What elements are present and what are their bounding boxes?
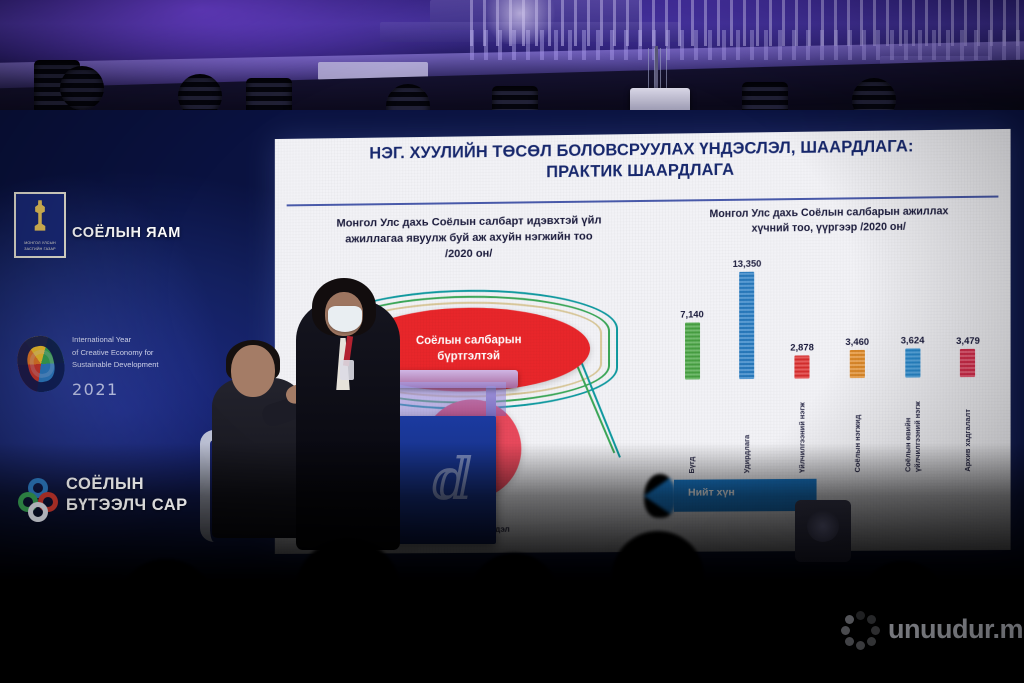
watermark-dot: [871, 626, 880, 635]
iyce-line2: of Creative Economy for: [72, 347, 172, 360]
creative-month-line1: СОЁЛЫН: [66, 474, 188, 495]
emblem-caption-line2: ЗАСГИЙН ГАЗАР: [24, 247, 55, 252]
audience-head: [2, 589, 84, 669]
iyce-ring-icon: [13, 332, 70, 396]
chandelier-cluster: [480, 0, 560, 44]
bar-column: 3,479: [946, 335, 991, 378]
slide-title: НЭГ. ХУУЛИЙН ТӨСӨЛ БОЛОВСРУУЛАХ ҮНДЭСЛЭЛ…: [275, 135, 1011, 188]
creative-month-circles-icon: [18, 478, 62, 522]
bar-value-label: 3,479: [956, 335, 980, 346]
watermark-dots-icon: [838, 608, 884, 654]
watermark-dot: [845, 637, 854, 646]
conference-photo-scene: НЭГ. ХУУЛИЙН ТӨСӨЛ БОЛОВСРУУЛАХ ҮНДЭСЛЭЛ…: [0, 0, 1024, 683]
bar-column: 3,624: [890, 334, 934, 378]
iyce-line3: Sustainable Development: [72, 359, 172, 372]
iyce-year: 2021: [72, 380, 119, 399]
soyombo-emblem-icon: [29, 200, 51, 238]
creative-month-line2: БҮТЭЭЛЧ САР: [66, 495, 188, 516]
bar-chart: 7,14013,3502,8783,4603,6243,479 БүгдУдир…: [664, 242, 996, 476]
bar: [850, 350, 865, 378]
watermark-dot: [841, 626, 850, 635]
watermark-dot: [856, 641, 865, 650]
bar: [905, 348, 920, 377]
interpreter-head: [231, 345, 275, 397]
watermark-dot: [867, 637, 876, 646]
bar-column: 2,878: [780, 341, 824, 379]
watermark-dot: [867, 615, 876, 624]
stage-light: [60, 66, 104, 110]
bar: [960, 349, 975, 377]
funnel-label-line1: Соёлын салбарын: [416, 334, 522, 350]
state-emblem-plaque: МОНГОЛ УЛСЫН ЗАСГИЙН ГАЗАР: [14, 192, 66, 258]
ministry-label: СОЁЛЫН ЯАМ: [72, 225, 181, 241]
projector-cables: [648, 48, 670, 90]
bar: [795, 355, 810, 378]
watermark: unuudur.mn: [838, 606, 1024, 658]
funnel-label-line2: бүртгэлтэй: [437, 349, 500, 365]
bar-column: 13,350: [725, 258, 769, 379]
left-heading-line3: /2020 он/: [291, 244, 648, 264]
speaker-badge: [340, 360, 354, 380]
logo-circle: [28, 502, 48, 522]
creative-month-text: СОЁЛЫН БҮТЭЭЛЧ САР: [66, 474, 188, 515]
bar: [685, 322, 700, 379]
audience-shoulders: [62, 625, 272, 683]
watermark-text: unuudur.mn: [888, 614, 1024, 645]
bar-value-label: 13,350: [733, 258, 762, 269]
audience-shoulders: [560, 603, 766, 683]
watermark-dot: [856, 611, 865, 620]
bar-column: 3,460: [835, 336, 879, 378]
bar-value-label: 2,878: [790, 341, 814, 352]
chart-heading: Монгол Улс дахь Соёлын салбарын ажиллах …: [660, 204, 998, 239]
iyce-text: International Year of Creative Economy f…: [72, 334, 172, 372]
bar-value-label: 7,140: [680, 308, 704, 319]
creative-month-logo: СОЁЛЫН БҮТЭЭЛЧ САР: [18, 470, 198, 532]
iyce-line1: International Year: [72, 334, 172, 347]
pa-speaker-cabinet: [795, 500, 851, 562]
iyce-logo: International Year of Creative Economy f…: [18, 330, 168, 416]
bar-value-label: 3,460: [845, 336, 869, 347]
watermark-dot: [845, 615, 854, 624]
bar: [739, 272, 754, 379]
left-panel-heading: Монгол Улс дахь Соёлын салбарт идэвхтэй …: [291, 212, 648, 265]
bar-value-label: 3,624: [901, 334, 925, 345]
face-mask: [328, 306, 362, 332]
bar-chart-bars: 7,14013,3502,8783,4603,6243,479: [664, 256, 996, 380]
bar-column: 7,140: [670, 308, 714, 380]
